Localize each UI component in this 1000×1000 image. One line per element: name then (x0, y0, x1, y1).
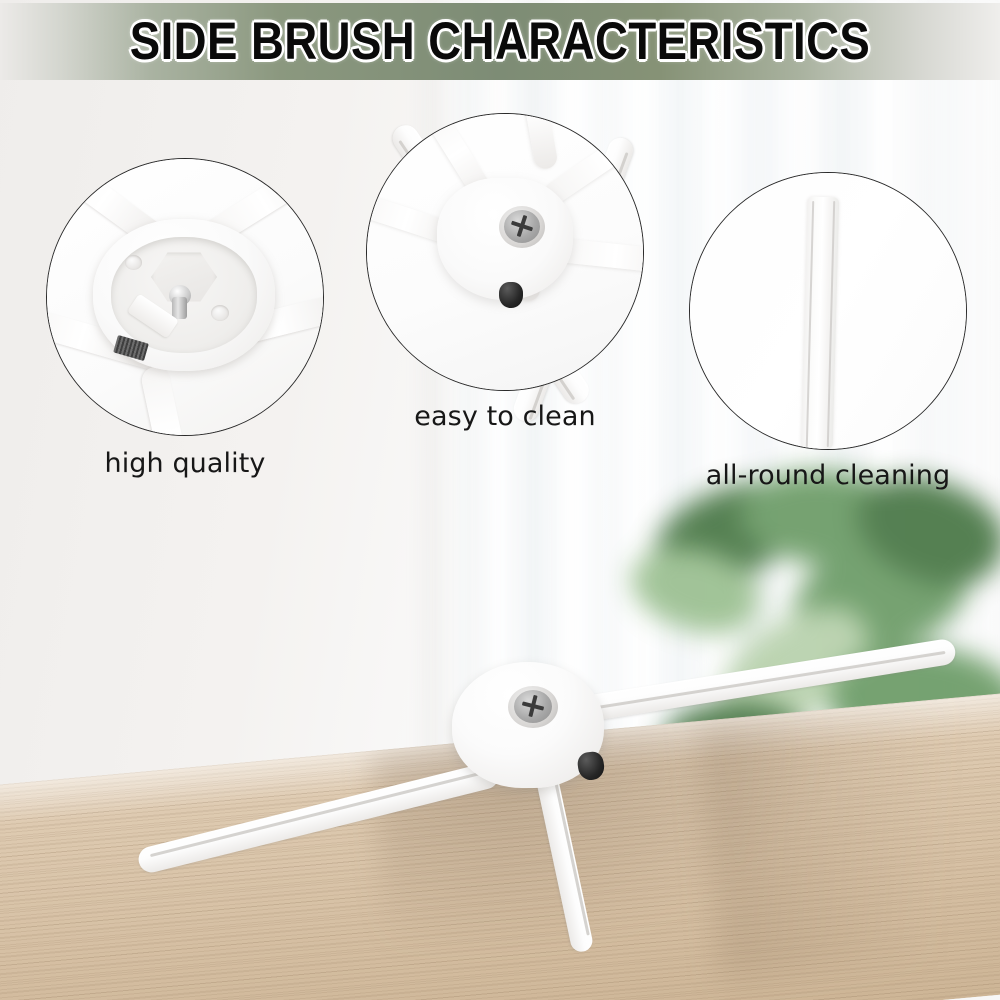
hub-dimple-left (125, 255, 142, 270)
callout-circle-easy-to-clean (366, 113, 644, 391)
callout-label-all-round-cleaning: all-round cleaning (706, 460, 950, 491)
callout-high-quality: high quality (46, 158, 324, 488)
center-pin-shaft (172, 297, 187, 319)
callout-circle-high-quality (46, 158, 324, 436)
callout-easy-to-clean: easy to clean (366, 113, 644, 435)
hub-closeup-image (46, 158, 323, 435)
closeup-rubber-nub (499, 282, 523, 308)
page-title: SIDE BRUSH CHARACTERISTICS (70, 3, 930, 80)
hub-dimple-right (211, 305, 229, 321)
header-banner: SIDE BRUSH CHARACTERISTICS (0, 3, 1000, 80)
callout-label-easy-to-clean: easy to clean (414, 401, 595, 432)
bristle-arm-closeup-image (689, 172, 966, 449)
callout-label-high-quality: high quality (104, 448, 265, 479)
callout-circle-all-round-cleaning (689, 172, 967, 450)
brush-arm-left-groove (150, 770, 488, 857)
brush-rubber-nub (576, 750, 606, 781)
callout-all-round-cleaning: all-round cleaning (689, 172, 967, 504)
brush-arm-left (136, 760, 501, 875)
screw-closeup-image (366, 113, 643, 390)
brush-arm-right-groove (572, 651, 946, 713)
product-infographic: SIDE BRUSH CHARACTERISTICS (0, 0, 1000, 1000)
